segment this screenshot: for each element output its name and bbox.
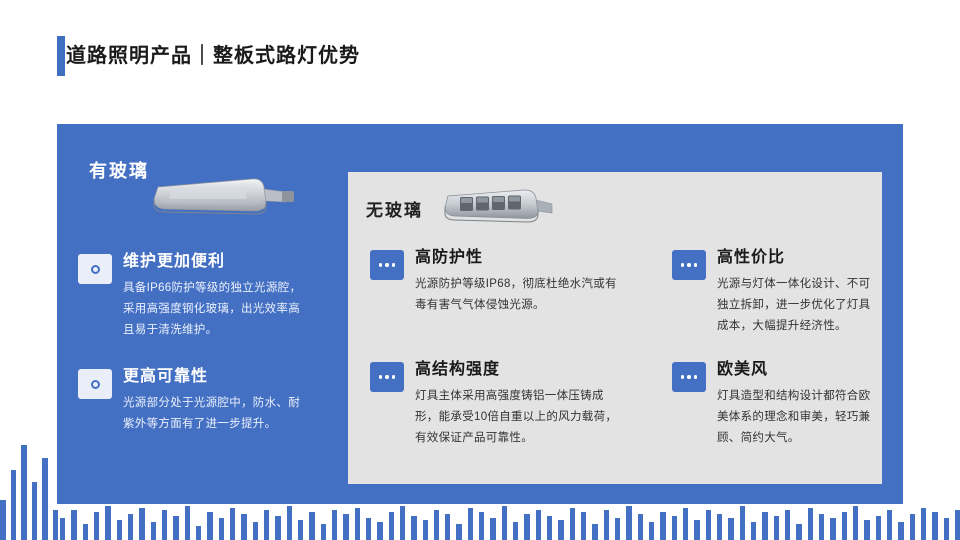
feature-title: 更高可靠性 [123, 367, 310, 387]
decorative-bar [921, 508, 926, 540]
decorative-bar [42, 458, 48, 540]
decorative-bar [808, 508, 813, 540]
decorative-bar [389, 512, 394, 540]
decorative-bar [864, 520, 869, 540]
three-dots-icon [370, 250, 404, 280]
decorative-bar [230, 508, 235, 540]
decorative-bar [649, 522, 654, 540]
decorative-bar [604, 510, 609, 540]
decorative-bar [706, 510, 711, 540]
feature-description: 具备IP66防护等级的独立光源腔，采用高强度钢化玻璃，出光效率高且易于清洗维护。 [123, 278, 310, 341]
decorative-bar [819, 514, 824, 540]
decorative-bar [717, 514, 722, 540]
decorative-bar [898, 522, 903, 540]
decorative-bar [672, 516, 677, 540]
decorative-bar [513, 522, 518, 540]
decorative-bar [185, 506, 190, 540]
decorative-bar [638, 514, 643, 540]
feature-title: 高防护性 [415, 248, 620, 268]
feature-body: 高结构强度 灯具主体采用高强度铸铝一体压铸成形，能承受10倍自重以上的风力载荷，… [415, 360, 620, 449]
decorative-bar [21, 445, 27, 540]
right-section-heading: 无玻璃 [366, 196, 423, 221]
decorative-bar [853, 506, 858, 540]
decorative-bar [275, 516, 280, 540]
feature-item: 更高可靠性 光源部分处于光源腔中，防水、耐紫外等方面有了进一步提升。 [78, 367, 310, 435]
decorative-bar [400, 506, 405, 540]
decorative-bar [71, 510, 76, 540]
decorative-bar [468, 508, 473, 540]
decorative-bar [524, 514, 529, 540]
decorative-bar [377, 522, 382, 540]
three-dots-icon [672, 362, 706, 392]
feature-description: 灯具主体采用高强度铸铝一体压铸成形，能承受10倍自重以上的风力载荷，有效保证产品… [415, 386, 620, 449]
decorative-bar [253, 522, 258, 540]
feature-body: 欧美风 灯具造型和结构设计都符合欧美体系的理念和审美，轻巧兼顾、简约大气。 [717, 360, 872, 449]
decorative-bar [626, 506, 631, 540]
page-title: 道路照明产品｜整板式路灯优势 [66, 38, 360, 74]
decorative-bar [502, 506, 507, 540]
decorative-bar [94, 512, 99, 540]
decorative-bar [355, 508, 360, 540]
feature-title: 维护更加便利 [123, 252, 310, 272]
feature-title: 高结构强度 [415, 360, 620, 380]
feature-item: 高性价比 光源与灯体一体化设计、不可独立拆卸，进一步优化了灯具成本，大幅提升经济… [672, 248, 872, 337]
decorative-bar [660, 512, 665, 540]
feature-item: 高防护性 光源防护等级IP68，彻底杜绝水汽或有毒有害气气体侵蚀光源。 [370, 248, 620, 316]
decorative-bar [309, 512, 314, 540]
feature-description: 光源与灯体一体化设计、不可独立拆卸，进一步优化了灯具成本，大幅提升经济性。 [717, 274, 872, 337]
decorative-bar [944, 518, 949, 540]
decorative-bar [219, 518, 224, 540]
decorative-bar [11, 470, 17, 540]
decorative-bar [932, 512, 937, 540]
decorative-bar [490, 518, 495, 540]
decorative-bar [321, 524, 326, 540]
decorative-bar [264, 510, 269, 540]
decorative-bar [842, 512, 847, 540]
feature-title: 高性价比 [717, 248, 872, 268]
decorative-bar [287, 506, 292, 540]
decorative-bar [53, 510, 59, 540]
decorative-bar [694, 520, 699, 540]
decorative-bar [241, 514, 246, 540]
feature-item: 维护更加便利 具备IP66防护等级的独立光源腔，采用高强度钢化玻璃，出光效率高且… [78, 252, 310, 341]
bottom-decorative-bars [60, 506, 960, 540]
feature-body: 更高可靠性 光源部分处于光源腔中，防水、耐紫外等方面有了进一步提升。 [123, 367, 310, 435]
decorative-bar [876, 516, 881, 540]
decorative-bar [615, 518, 620, 540]
decorative-bar [728, 518, 733, 540]
left-decorative-bars [0, 425, 58, 540]
decorative-bar [910, 514, 915, 540]
decorative-bar [740, 506, 745, 540]
decorative-bar [774, 516, 779, 540]
decorative-bar [0, 500, 6, 540]
three-dots-icon [672, 250, 706, 280]
slide-canvas: 道路照明产品｜整板式路灯优势 有玻璃 无玻璃 [0, 0, 960, 540]
decorative-bar [139, 508, 144, 540]
title-accent-bar [57, 36, 65, 76]
decorative-bar [570, 508, 575, 540]
decorative-bar [332, 510, 337, 540]
decorative-bar [83, 524, 88, 540]
feature-body: 高性价比 光源与灯体一体化设计、不可独立拆卸，进一步优化了灯具成本，大幅提升经济… [717, 248, 872, 337]
decorative-bar [785, 510, 790, 540]
decorative-bar [558, 520, 563, 540]
decorative-bar [151, 522, 156, 540]
circle-dot-icon [78, 369, 112, 399]
decorative-bar [162, 510, 167, 540]
decorative-bar [683, 508, 688, 540]
decorative-bar [207, 512, 212, 540]
decorative-bar [117, 520, 122, 540]
decorative-bar [434, 510, 439, 540]
decorative-bar [196, 526, 201, 540]
decorative-bar [592, 524, 597, 540]
decorative-bar [887, 510, 892, 540]
decorative-bar [343, 514, 348, 540]
decorative-bar [762, 512, 767, 540]
feature-description: 灯具造型和结构设计都符合欧美体系的理念和审美，轻巧兼顾、简约大气。 [717, 386, 872, 449]
street-lamp-with-glass-photo [140, 165, 300, 225]
feature-body: 高防护性 光源防护等级IP68，彻底杜绝水汽或有毒有害气气体侵蚀光源。 [415, 248, 620, 316]
street-lamp-no-glass-photo [440, 180, 560, 240]
decorative-bar [796, 524, 801, 540]
decorative-bar [366, 518, 371, 540]
decorative-bar [173, 516, 178, 540]
decorative-bar [547, 516, 552, 540]
feature-description: 光源防护等级IP68，彻底杜绝水汽或有毒有害气气体侵蚀光源。 [415, 274, 620, 316]
feature-body: 维护更加便利 具备IP66防护等级的独立光源腔，采用高强度钢化玻璃，出光效率高且… [123, 252, 310, 341]
feature-description: 光源部分处于光源腔中，防水、耐紫外等方面有了进一步提升。 [123, 393, 310, 435]
decorative-bar [445, 514, 450, 540]
decorative-bar [423, 520, 428, 540]
feature-title: 欧美风 [717, 360, 872, 380]
decorative-bar [411, 516, 416, 540]
decorative-bar [32, 482, 38, 540]
decorative-bar [298, 520, 303, 540]
feature-item: 高结构强度 灯具主体采用高强度铸铝一体压铸成形，能承受10倍自重以上的风力载荷，… [370, 360, 620, 449]
decorative-bar [456, 524, 461, 540]
decorative-bar [60, 518, 65, 540]
feature-item: 欧美风 灯具造型和结构设计都符合欧美体系的理念和审美，轻巧兼顾、简约大气。 [672, 360, 872, 449]
decorative-bar [105, 506, 110, 540]
decorative-bar [751, 522, 756, 540]
circle-dot-icon [78, 254, 112, 284]
decorative-bar [536, 510, 541, 540]
three-dots-icon [370, 362, 404, 392]
decorative-bar [479, 512, 484, 540]
decorative-bar [955, 510, 960, 540]
decorative-bar [128, 514, 133, 540]
decorative-bar [830, 518, 835, 540]
decorative-bar [581, 512, 586, 540]
